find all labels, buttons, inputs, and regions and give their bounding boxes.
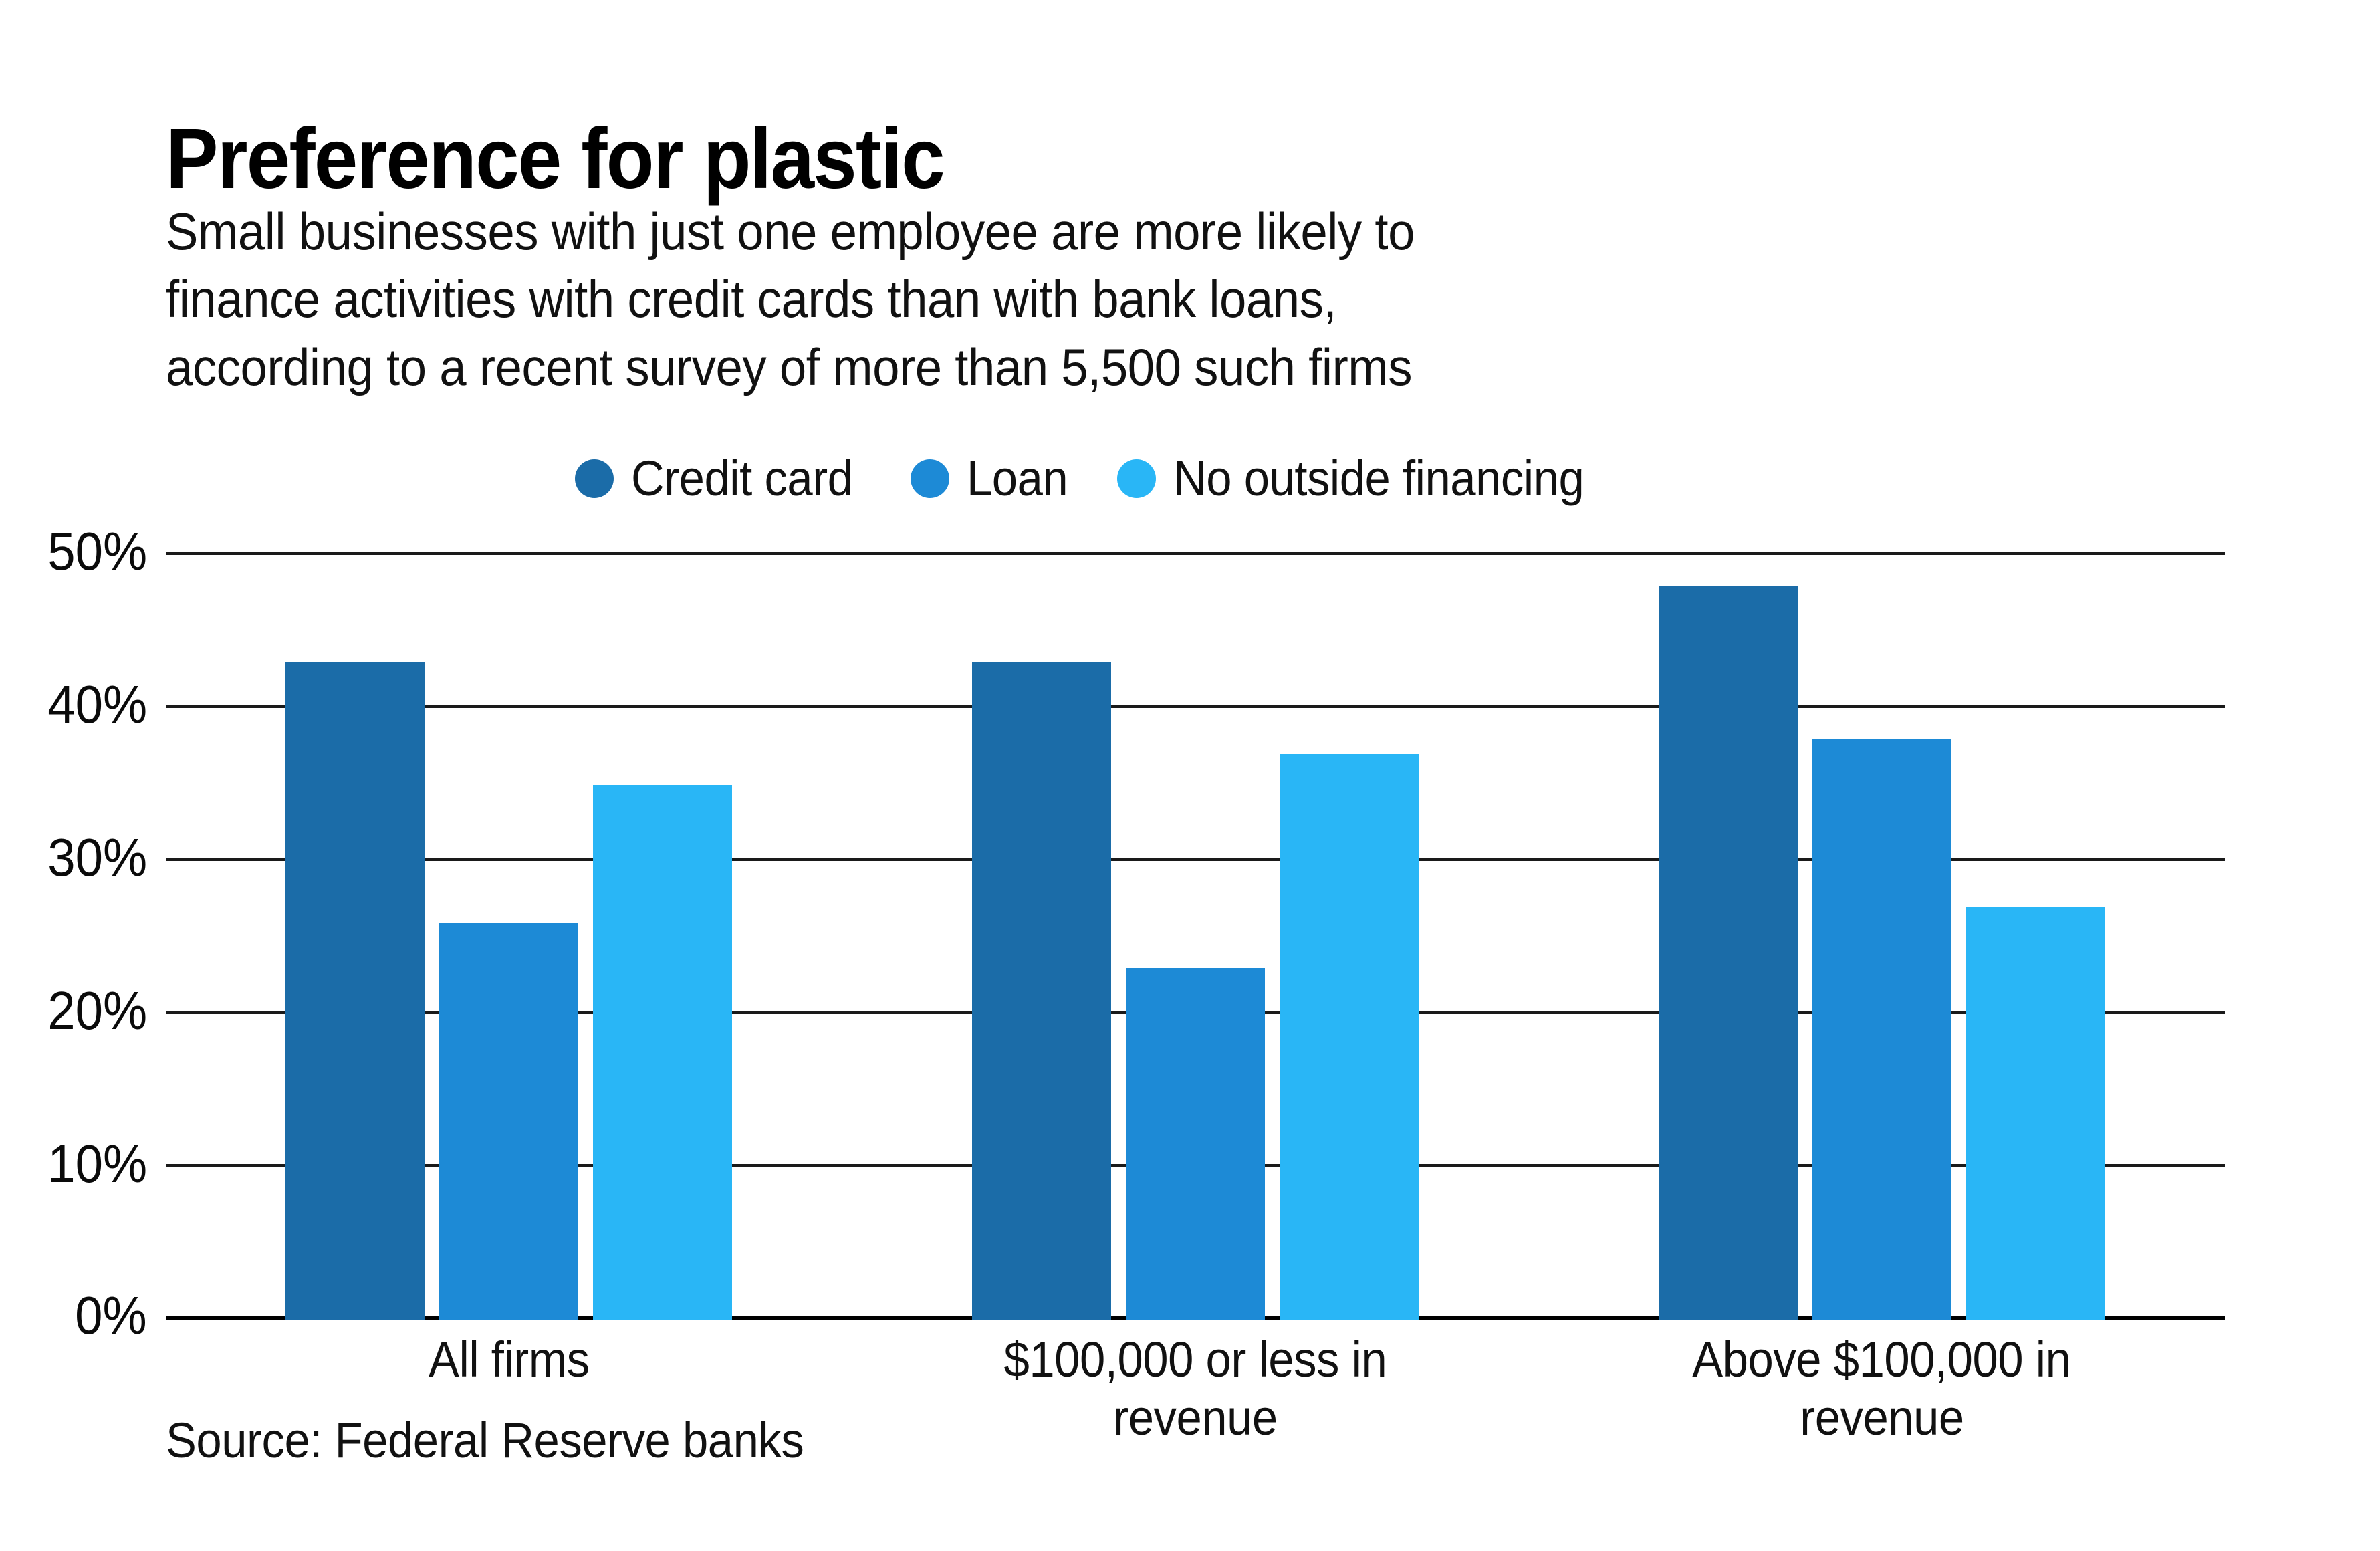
bar[interactable] [1280, 754, 1419, 1320]
chart-plot-area: 0%10%20%30%40%50% [166, 555, 2225, 1320]
y-axis-tick-label: 40% [47, 678, 147, 731]
bar[interactable] [593, 785, 732, 1321]
chart-page: Preference for plastic Small businesses … [0, 0, 2380, 1551]
x-axis-category-label-line: All firms [429, 1330, 589, 1389]
source-note: Source: Federal Reserve banks [166, 1416, 804, 1465]
bar-groups [166, 555, 2225, 1320]
x-axis-category-label-line: revenue [1800, 1389, 1963, 1447]
y-axis-tick-label: 0% [75, 1289, 147, 1342]
x-axis-category-label-line: Above $100,000 in [1693, 1330, 2071, 1389]
bar[interactable] [1659, 586, 1798, 1320]
x-axis-category-label-line: revenue [1113, 1389, 1277, 1447]
legend-label-no-outside-financing: No outside financing [1173, 454, 1584, 503]
legend-item-no-outside-financing: No outside financing [1117, 454, 1615, 503]
legend-label-loan: Loan [967, 454, 1068, 503]
subtitle-line-1: Small businesses with just one employee … [166, 198, 2080, 265]
bar-group [166, 555, 852, 1320]
chart-legend: Credit card Loan No outside financing [575, 447, 1615, 511]
bar[interactable] [1126, 968, 1265, 1320]
bar-group [852, 555, 1539, 1320]
legend-label-credit-card: Credit card [631, 454, 852, 503]
y-axis-tick-label: 50% [47, 525, 147, 578]
bar[interactable] [439, 923, 578, 1320]
y-axis-tick-label: 20% [47, 984, 147, 1038]
x-axis-category-label: Above $100,000 inrevenue [1538, 1330, 2225, 1447]
bar[interactable] [1812, 739, 1951, 1320]
x-axis-category-label-line: $100,000 or less in [1004, 1330, 1387, 1389]
bar[interactable] [1966, 907, 2105, 1320]
page-title: Preference for plastic [166, 116, 944, 202]
circle-swatch-icon [575, 459, 614, 498]
y-axis-tick-label: 10% [47, 1137, 147, 1191]
circle-swatch-icon [1117, 459, 1156, 498]
legend-item-loan: Loan [911, 454, 1076, 503]
subtitle-line-3: according to a recent survey of more tha… [166, 334, 2080, 401]
y-axis-tick-label: 30% [47, 831, 147, 884]
bar-group [1538, 555, 2225, 1320]
circle-swatch-icon [911, 459, 949, 498]
bar[interactable] [285, 662, 425, 1320]
bar[interactable] [972, 662, 1111, 1320]
legend-item-credit-card: Credit card [575, 454, 869, 503]
subtitle-line-2: finance activities with credit cards tha… [166, 265, 2080, 333]
x-axis-category-label: $100,000 or less inrevenue [852, 1330, 1539, 1447]
page-subtitle: Small businesses with just one employee … [166, 198, 2080, 401]
